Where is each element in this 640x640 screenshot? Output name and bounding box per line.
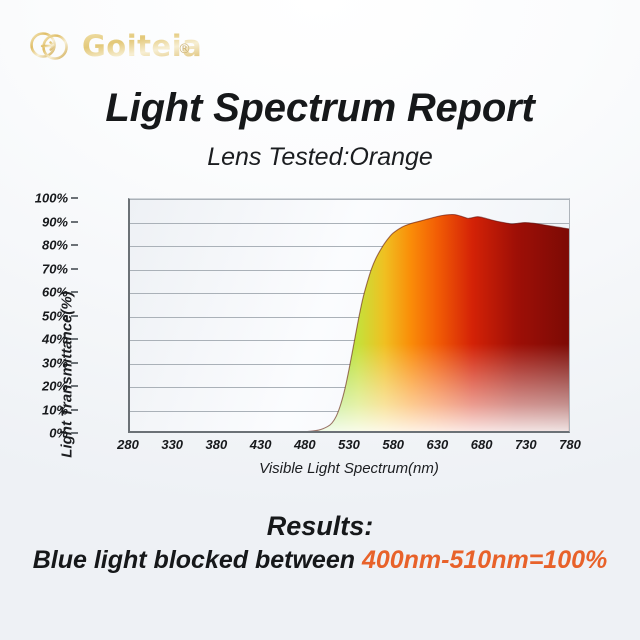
transmittance-curve [130,199,569,432]
y-tick-label: 30% [42,355,68,370]
y-tick-label: 20% [42,379,68,394]
y-tick-mark [71,385,78,387]
y-tick-label: 60% [42,285,68,300]
y-tick-mark [71,362,78,364]
y-tick-mark [71,291,78,293]
y-tick-label: 100% [35,191,68,206]
y-tick-label: 0% [49,426,68,441]
x-tick-label: 480 [294,437,316,452]
x-tick-label: 730 [515,437,537,452]
x-tick-label: 680 [471,437,493,452]
y-tick-mark [71,197,78,199]
x-axis-ticks: 280330380430480530580630680730780 [128,437,570,459]
x-tick-label: 530 [338,437,360,452]
registered-trademark-icon: ® [178,42,191,57]
x-tick-label: 580 [382,437,404,452]
x-tick-label: 780 [559,437,581,452]
results-heading: Results: [0,511,640,542]
brand-logo: Goiteia ® [26,22,202,70]
x-tick-label: 430 [250,437,272,452]
x-tick-label: 330 [161,437,183,452]
goiteia-logo-icon [26,23,72,69]
y-tick-label: 80% [42,238,68,253]
y-tick-mark [71,221,78,223]
y-tick-mark [71,268,78,270]
x-tick-label: 380 [206,437,228,452]
y-tick-label: 50% [42,308,68,323]
y-tick-mark [71,244,78,246]
y-tick-mark [71,432,78,434]
plot-area [128,198,570,433]
y-tick-mark [71,338,78,340]
page-title: Light Spectrum Report [0,86,640,131]
results-highlight: 400nm-510nm=100% [362,546,607,574]
y-tick-label: 40% [42,332,68,347]
report-page: Goiteia ® Light Spectrum Report Lens Tes… [0,0,640,640]
y-tick-mark [71,409,78,411]
y-tick-label: 70% [42,261,68,276]
y-tick-label: 90% [42,214,68,229]
results-statement: Blue light blocked between 400nm-510nm=1… [0,546,640,575]
y-tick-mark [71,315,78,317]
x-axis-label: Visible Light Spectrum(nm) [128,460,570,477]
x-tick-label: 630 [427,437,449,452]
spectrum-chart: Light Transmittance(%) 0%10%20%30%40%50%… [0,186,640,476]
y-axis-ticks: 0%10%20%30%40%50%60%70%80%90%100% [0,186,128,435]
results-prefix: Blue light blocked between [33,546,362,574]
x-tick-label: 280 [117,437,139,452]
y-tick-label: 10% [42,402,68,417]
page-subtitle: Lens Tested:Orange [0,143,640,172]
